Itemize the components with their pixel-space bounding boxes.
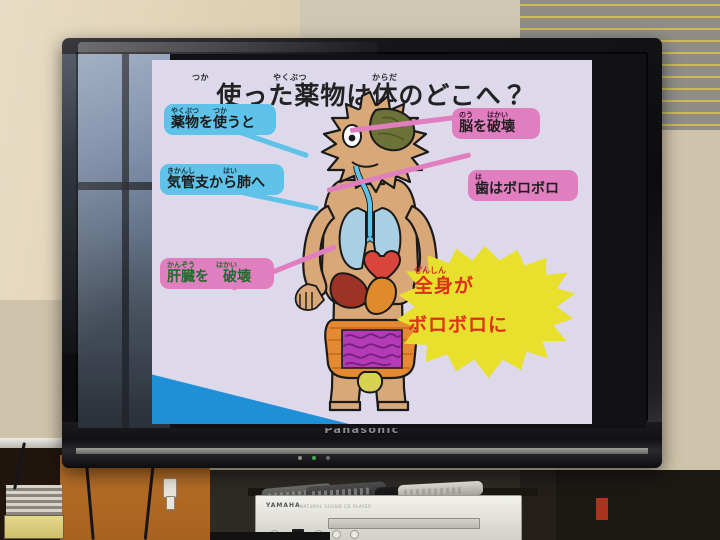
bubble-drug-use-ruby: やくぶつ つか: [171, 107, 269, 115]
presentation-slide: つか やくぶつ からだ 使った薬物は体のどこへ？: [152, 60, 592, 424]
av-stop-button[interactable]: [350, 530, 359, 539]
cabinet-right: [556, 470, 720, 540]
human-body-diagram: [272, 88, 472, 418]
title-ruby-3: からだ: [372, 72, 398, 83]
yellow-box: [4, 515, 64, 539]
tv-indicator-leds: [298, 456, 330, 460]
room-scene: VIERA Panasonic: [0, 0, 720, 540]
bubble-liver-ruby: かんぞう はかい: [167, 261, 267, 269]
tv-chin-accent-strip: [76, 448, 648, 454]
bubble-liver-text: 肝臓を 破壊: [167, 269, 267, 285]
bubble-drug-use[interactable]: やくぶつ つか 薬物を使うと: [164, 104, 276, 135]
plug-adapter: [163, 478, 177, 498]
tv-screen: つか やくぶつ からだ 使った薬物は体のどこへ？: [78, 54, 646, 428]
bubble-bronchi-lungs[interactable]: きかんし はい 気管支から肺へ: [160, 164, 284, 195]
av-play-button[interactable]: [332, 530, 341, 539]
power-led: [312, 456, 316, 460]
av-unit-lower-black: [210, 532, 330, 540]
plug-tag: [166, 496, 175, 510]
bubble-teeth-ruined[interactable]: は 歯はボロボロ: [468, 170, 578, 201]
starburst-line1: 全身が: [414, 275, 554, 297]
tv-bottom-bezel: Panasonic: [62, 422, 662, 468]
bubble-teeth-ruby: は: [475, 173, 571, 181]
av-brand-label: YAMAHA: [266, 502, 301, 509]
bubble-brain-destroy[interactable]: のう はかい 脳を破壊: [452, 108, 540, 139]
title-ruby-line: つか やくぶつ からだ: [170, 72, 574, 83]
bubble-brain-text: 脳を破壊: [459, 119, 533, 135]
starburst-line2: ボロボロに: [408, 314, 568, 336]
bubble-brain-ruby: のう はかい: [459, 111, 533, 119]
starburst-line2-group: ボロボロに: [408, 314, 568, 336]
bubble-bronchi-text: 気管支から肺へ: [167, 175, 277, 191]
bubble-liver-destroy[interactable]: かんぞう はかい 肝臓を 破壊: [160, 258, 274, 289]
bubble-drug-use-text: 薬物を使うと: [171, 115, 269, 131]
bubble-bronchi-ruby: きかんし はい: [167, 167, 277, 175]
timer-led: [326, 456, 330, 460]
title-ruby-1: つか: [192, 72, 209, 83]
av-model-label: NATURAL SOUND CD PLAYER: [300, 504, 371, 509]
av-disc-tray[interactable]: [328, 518, 480, 529]
starburst-ruby: ぜんしん: [414, 266, 554, 275]
red-sticker: [596, 498, 608, 520]
standby-led: [298, 456, 302, 460]
title-ruby-2: やくぶつ: [273, 72, 307, 83]
bubble-teeth-text: 歯はボロボロ: [475, 181, 571, 197]
starburst-line1-group: ぜんしん 全身が: [414, 266, 554, 297]
